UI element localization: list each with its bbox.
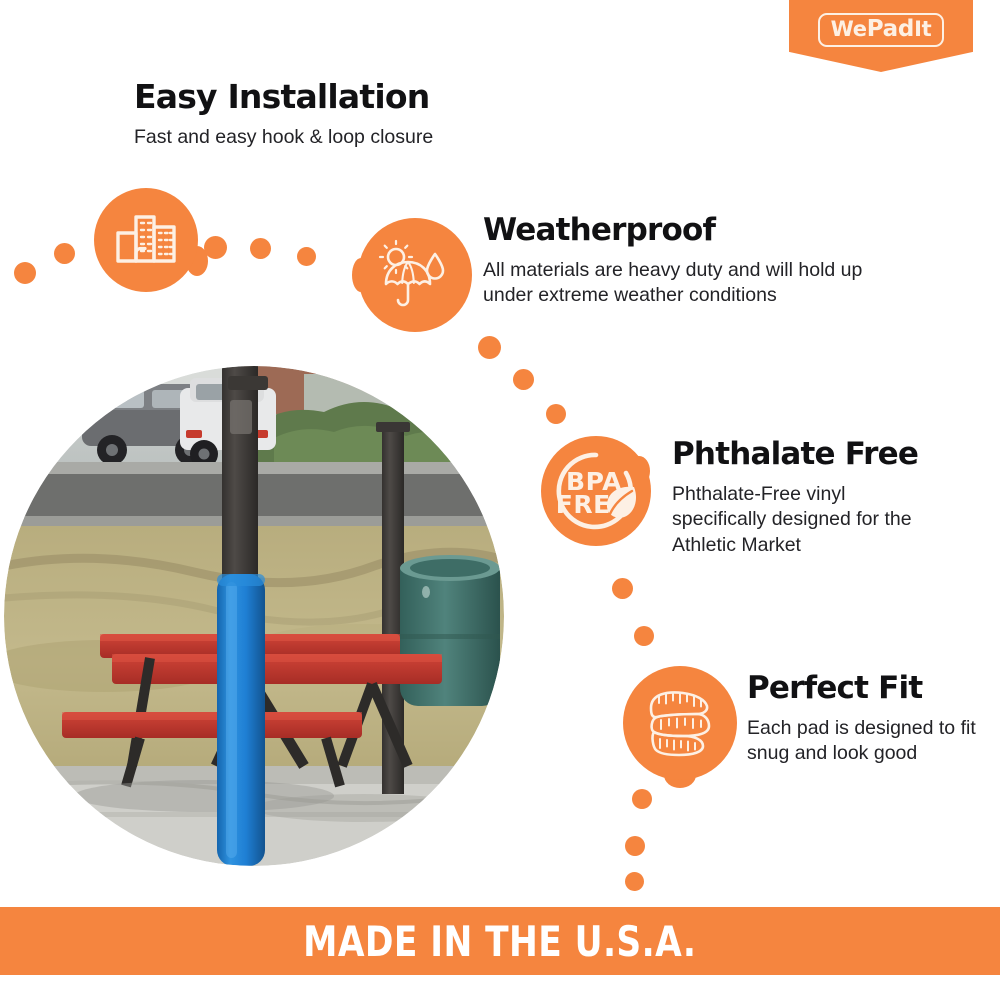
- feature-title-perfect-fit: Perfect Fit: [747, 672, 922, 705]
- infographic-root: WePadIt Easy Installation Fast and easy …: [0, 0, 1000, 987]
- trail-dot: [478, 336, 501, 359]
- brand-logo-badge: WePadIt: [789, 0, 973, 72]
- trail-dot: [54, 243, 75, 264]
- feature-title-phthalate-free: Phthalate Free: [672, 438, 918, 471]
- trail-dot: [14, 262, 36, 284]
- trail-dot: [204, 236, 227, 259]
- feature-description-weatherproof: All materials are heavy duty and will ho…: [483, 258, 913, 309]
- measuring-tape-icon: [641, 684, 719, 762]
- trail-dot: [634, 626, 654, 646]
- trail-dot: [625, 836, 645, 856]
- feature-icon-perfect-fit: [623, 666, 737, 780]
- feature-icon-easy-installation: [94, 188, 198, 292]
- trail-dot: [297, 247, 316, 266]
- trail-dot: [625, 872, 644, 891]
- bpa-free-leaf-icon: BPA FREE: [550, 445, 642, 537]
- trail-dot: [513, 369, 534, 390]
- logo-word-we: We: [831, 17, 867, 41]
- feature-icon-phthalate-free: BPA FREE: [541, 436, 651, 546]
- made-in-usa-label: MADE IN THE U.S.A.: [303, 917, 696, 966]
- made-in-usa-banner: MADE IN THE U.S.A.: [0, 907, 1000, 975]
- product-photo: [4, 366, 504, 866]
- logo-word-pad: Pad: [867, 16, 914, 42]
- brand-logo-plate: WePadIt: [818, 13, 945, 47]
- feature-description-phthalate-free: Phthalate-Free vinyl specifically design…: [672, 482, 942, 558]
- building-installation-icon: [114, 211, 178, 269]
- trail-dot: [632, 789, 652, 809]
- feature-icon-weatherproof: [358, 218, 472, 332]
- trail-dot: [250, 238, 271, 259]
- brand-logo-text: WePadIt: [831, 17, 932, 41]
- logo-word-it: It: [914, 17, 931, 41]
- feature-description-perfect-fit: Each pad is designed to fit snug and loo…: [747, 716, 977, 767]
- feature-description-easy-installation: Fast and easy hook & loop closure: [134, 125, 564, 150]
- trail-dot: [546, 404, 566, 424]
- feature-title-weatherproof: Weatherproof: [483, 214, 715, 247]
- sun-umbrella-raindrop-icon: [377, 240, 453, 310]
- feature-title-easy-installation: Easy Installation: [134, 80, 429, 115]
- trail-dot: [612, 578, 633, 599]
